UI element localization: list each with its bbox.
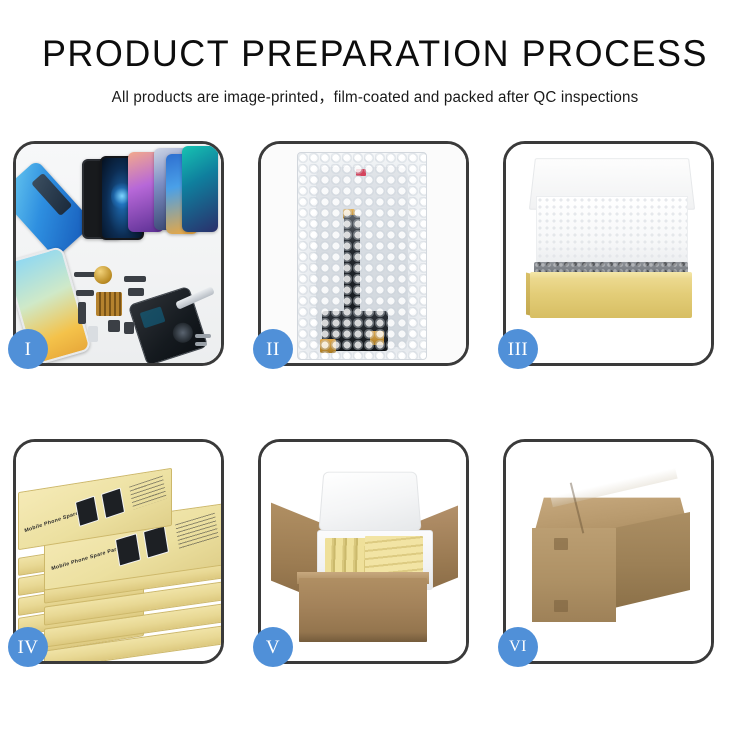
panel-6-image bbox=[506, 442, 711, 661]
gold-connector-right bbox=[370, 331, 384, 345]
foam-lined-box-scene bbox=[506, 144, 711, 363]
bubble-wrap-scene bbox=[261, 144, 466, 363]
process-step-panel-5: V bbox=[258, 439, 469, 664]
red-qc-sticker bbox=[356, 169, 366, 176]
page-title: PRODUCT PREPARATION PROCESS bbox=[11, 34, 739, 74]
header: PRODUCT PREPARATION PROCESS All products… bbox=[0, 34, 750, 107]
volume-button-part bbox=[128, 288, 144, 296]
panel-2-image bbox=[261, 144, 466, 363]
carton-body bbox=[299, 578, 427, 642]
process-step-panel-6: VI bbox=[503, 439, 714, 664]
box-stack: Mobile Phone Spare Parts Mobile Phone Sp… bbox=[16, 442, 221, 661]
process-step-grid: I II bbox=[13, 141, 737, 664]
carton-front-face bbox=[532, 528, 616, 622]
screen-flex-cable bbox=[344, 215, 360, 319]
stacked-boxes-scene: Mobile Phone Spare Parts Mobile Phone Sp… bbox=[16, 442, 221, 661]
phone-parts-scene bbox=[16, 144, 221, 363]
screw-part-b bbox=[195, 342, 207, 346]
step-badge-5: V bbox=[253, 627, 293, 667]
gold-connector-left bbox=[320, 339, 336, 353]
carton-packing-scene bbox=[261, 442, 466, 661]
step-badge-6: VI bbox=[498, 627, 538, 667]
product-preparation-infographic: PRODUCT PREPARATION PROCESS All products… bbox=[0, 0, 750, 750]
flex-cable-part-a bbox=[76, 290, 94, 296]
process-step-panel-1: I bbox=[13, 141, 224, 366]
white-foam-sheet bbox=[536, 196, 688, 264]
process-step-panel-4: Mobile Phone Spare Parts Mobile Phone Sp… bbox=[13, 439, 224, 664]
foam-texture bbox=[537, 197, 687, 263]
panel-4-image: Mobile Phone Spare Parts Mobile Phone Sp… bbox=[16, 442, 221, 661]
speaker-module-part bbox=[108, 320, 120, 332]
carton-right-face bbox=[614, 512, 690, 608]
step-badge-2: II bbox=[253, 329, 293, 369]
process-step-panel-3: III bbox=[503, 141, 714, 366]
process-step-panel-2: II bbox=[258, 141, 469, 366]
panel-1-image bbox=[16, 144, 221, 363]
carton-notch-bottom bbox=[554, 600, 568, 612]
sealed-carton-scene bbox=[506, 442, 711, 661]
flex-cable-part-b bbox=[78, 302, 86, 324]
bubble-wrap-bag bbox=[297, 152, 427, 360]
panel-3-image bbox=[506, 144, 711, 363]
kraft-box-front bbox=[530, 278, 692, 318]
teal-gradient-phone bbox=[182, 146, 218, 232]
step-badge-4: IV bbox=[8, 627, 48, 667]
screw-part-a bbox=[195, 334, 211, 338]
camera-module-part bbox=[124, 322, 134, 334]
carton-notch-top bbox=[554, 538, 568, 550]
step-badge-3: III bbox=[498, 329, 538, 369]
button-flex-part bbox=[124, 276, 146, 282]
panel-5-image bbox=[261, 442, 466, 661]
gold-contact-pad bbox=[96, 292, 122, 316]
foam-cooler-lid bbox=[318, 472, 421, 531]
gold-coil-part bbox=[94, 266, 112, 284]
step-badge-1: I bbox=[8, 329, 48, 369]
page-subtitle: All products are image-printed，film-coat… bbox=[6, 85, 745, 107]
sim-tray-part bbox=[88, 326, 98, 342]
